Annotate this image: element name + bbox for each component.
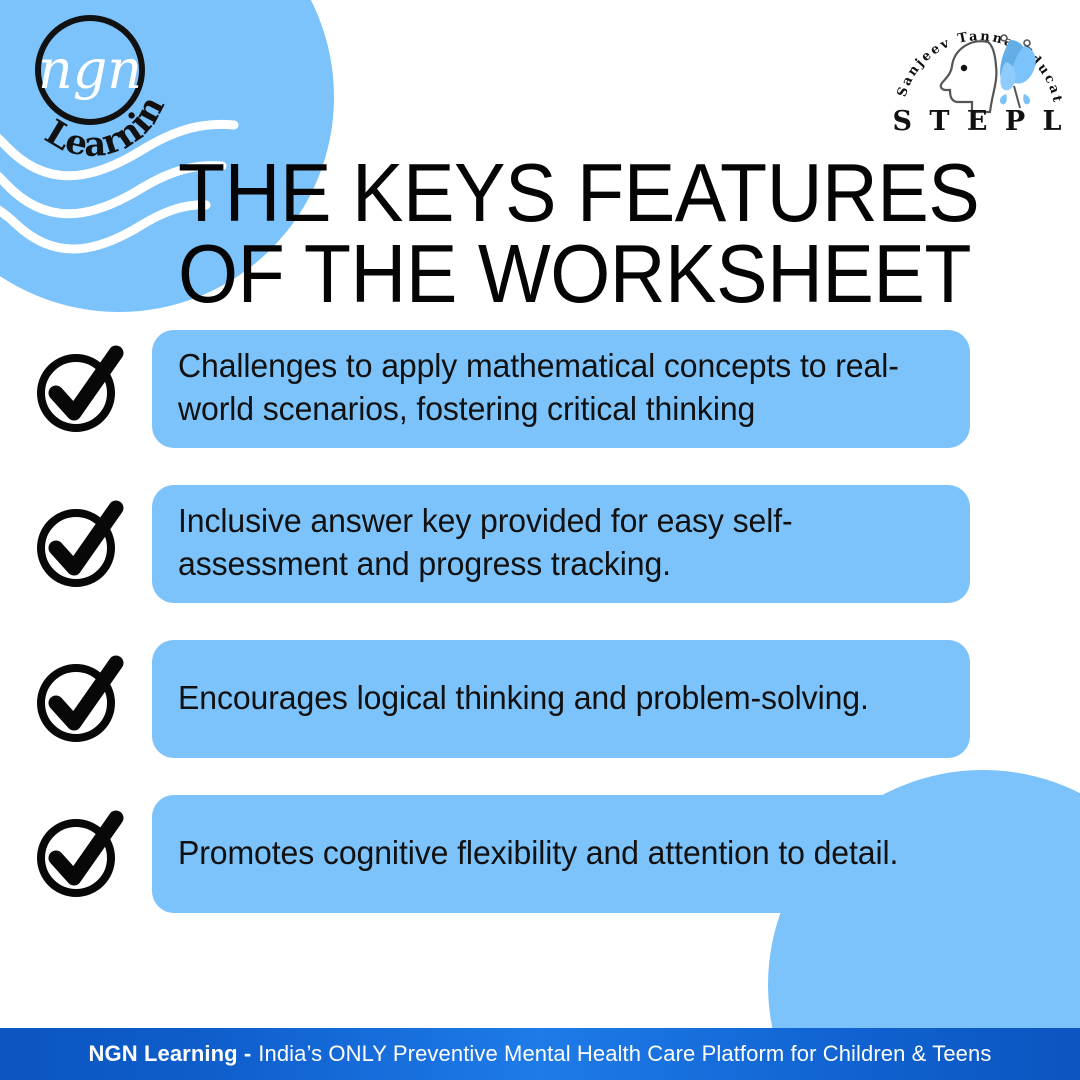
footer-banner: NGN Learning -India’s ONLY Preventive Me… [0,1028,1080,1080]
ngn-learning-logo: ngn Learning [14,8,174,163]
feature-text: Inclusive answer key provided for easy s… [178,501,910,586]
feature-text: Challenges to apply mathematical concept… [178,346,910,431]
footer-text: NGN Learning -India’s ONLY Preventive Me… [89,1041,992,1067]
feature-text: Encourages logical thinking and problem-… [178,678,910,721]
ngn-wordmark: ngn [38,38,142,101]
footer-tagline: India’s ONLY Preventive Mental Health Ca… [258,1041,991,1066]
check-icon-wrapper [0,341,152,437]
check-circle-icon [30,496,126,592]
feature-list: Challenges to apply mathematical concept… [0,330,1080,950]
feature-pill: Encourages logical thinking and problem-… [152,640,970,758]
check-circle-icon [30,341,126,437]
feature-item: Inclusive answer key provided for easy s… [0,485,1080,603]
check-icon-wrapper [0,651,152,747]
feature-item: Promotes cognitive flexibility and atten… [0,795,1080,913]
check-icon-wrapper [0,806,152,902]
page-title: THE KEYS FEATURES OF THE WORKSHEET [178,152,885,315]
feature-pill: Challenges to apply mathematical concept… [152,330,970,448]
feature-text: Promotes cognitive flexibility and atten… [178,833,910,876]
feature-pill: Inclusive answer key provided for easy s… [152,485,970,603]
feature-item: Challenges to apply mathematical concept… [0,330,1080,448]
feature-item: Encourages logical thinking and problem-… [0,640,1080,758]
check-circle-icon [30,806,126,902]
page-title-line-2: OF THE WORKSHEET [178,233,885,314]
footer-brand: NGN Learning - [89,1041,252,1066]
stepl-logo: Sanjeev Tanna Education S T E P L [884,2,1074,132]
check-circle-icon [30,651,126,747]
check-icon-wrapper [0,496,152,592]
poster-canvas: ngn Learning Sanjeev Tanna Education [0,0,1080,1080]
stepl-wordmark: S T E P L [892,106,1065,132]
head-profile-icon [941,41,997,112]
page-title-line-1: THE KEYS FEATURES [178,152,885,233]
feature-pill: Promotes cognitive flexibility and atten… [152,795,970,913]
